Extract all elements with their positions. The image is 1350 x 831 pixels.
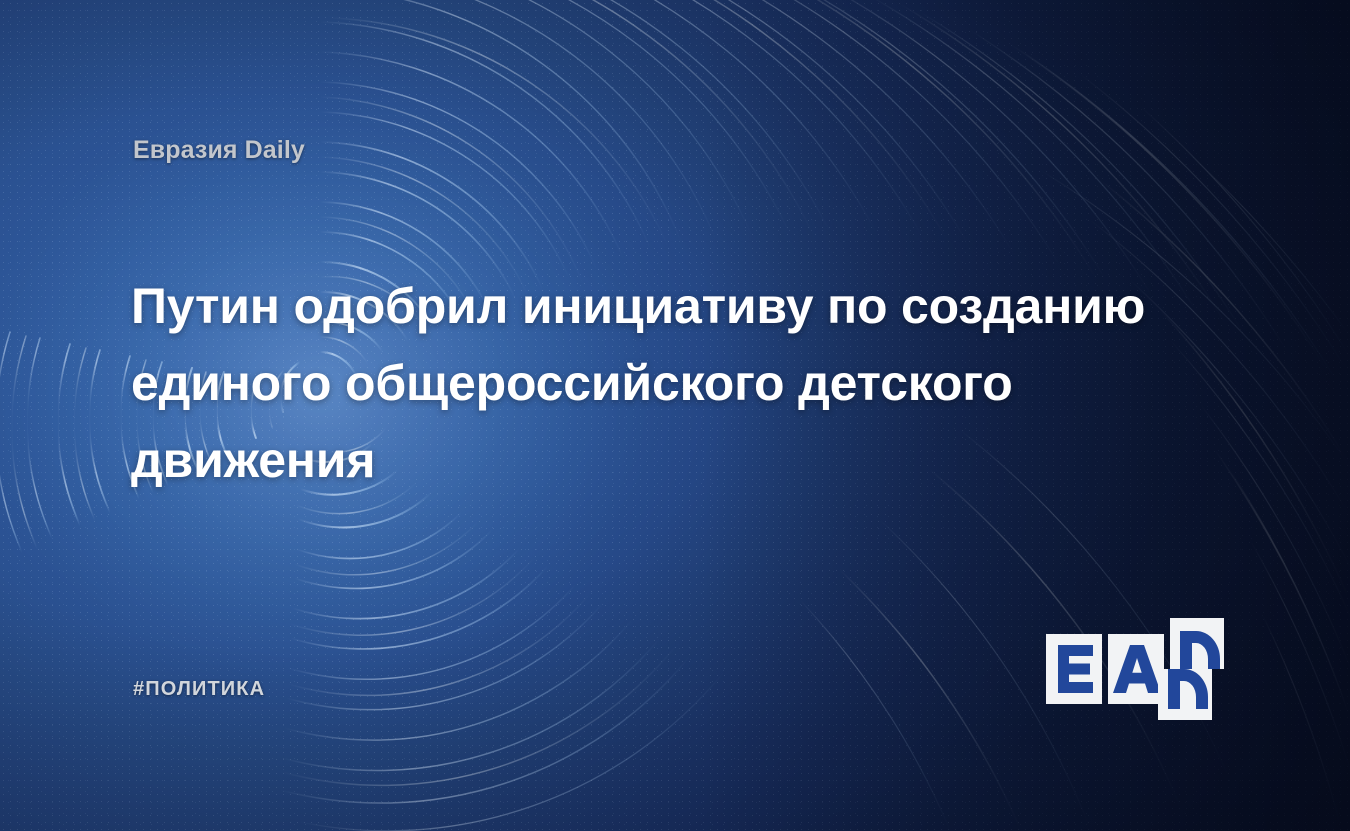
card-content: Евразия Daily Путин одобрил инициативу п… [0, 0, 1350, 831]
ead-logo-tile-d-bottom [1158, 669, 1212, 720]
ead-logo-tile-e [1046, 634, 1102, 704]
brand-wordmark: Евразия Daily [133, 136, 305, 165]
ead-logo-icon [1046, 618, 1224, 720]
ead-logo-tile-a [1108, 634, 1164, 704]
headline-title: Путин одобрил инициативу по созданию еди… [131, 268, 1241, 499]
ead-letter-e [1046, 634, 1102, 704]
news-share-card: Евразия Daily Путин одобрил инициативу п… [0, 0, 1350, 831]
ead-letter-d-upper-half [1170, 618, 1224, 669]
category-hashtag: #ПОЛИТИКА [133, 678, 265, 701]
ead-letter-a [1108, 634, 1164, 704]
ead-letter-d-lower-half [1158, 669, 1212, 720]
ead-logo-tile-d-top [1170, 618, 1224, 669]
